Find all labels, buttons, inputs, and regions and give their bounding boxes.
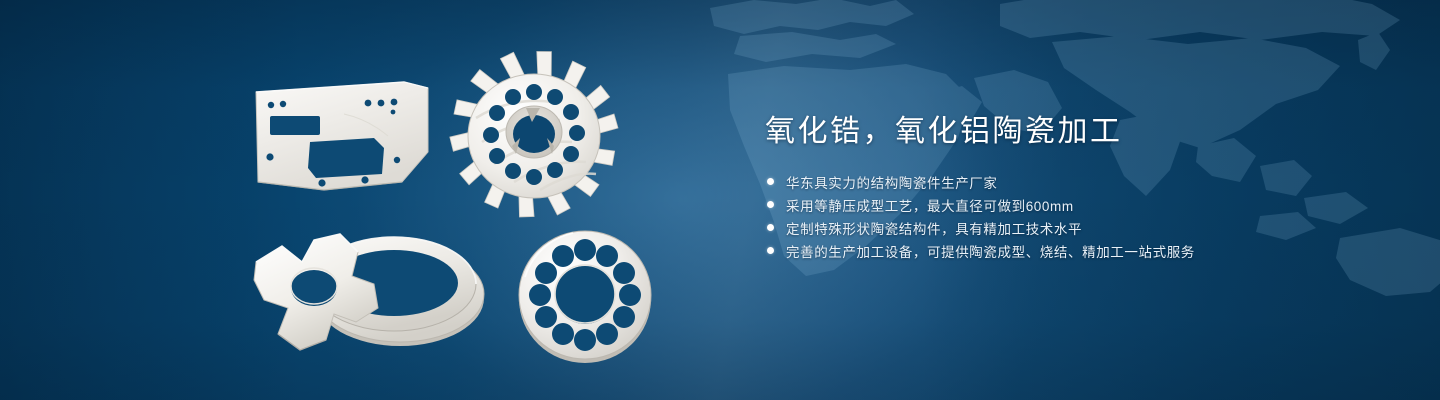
- feature-text: 华东具实力的结构陶瓷件生产厂家: [786, 172, 998, 192]
- ceramic-machined-plate-image: [252, 78, 432, 198]
- list-item: 定制特殊形状陶瓷结构件，具有精加工技术水平: [767, 216, 1365, 239]
- product-hero-banner: 氧化锆，氧化铝陶瓷加工 华东具实力的结构陶瓷件生产厂家 采用等静压成型工艺，最大…: [0, 0, 1440, 400]
- bullet-dot-icon: [767, 201, 774, 208]
- feature-text: 定制特殊形状陶瓷结构件，具有精加工技术水平: [786, 218, 1082, 238]
- ceramic-parts-group: [0, 0, 720, 400]
- feature-text: 完善的生产加工设备，可提供陶瓷成型、烧结、精加工一站式服务: [786, 241, 1195, 261]
- ceramic-perforated-ring-disc-image: [512, 222, 658, 368]
- banner-copy: 氧化锆，氧化铝陶瓷加工 华东具实力的结构陶瓷件生产厂家 采用等静压成型工艺，最大…: [765, 112, 1365, 262]
- ceramic-cross-and-rings-image: [248, 222, 500, 362]
- list-item: 采用等静压成型工艺，最大直径可做到600mm: [767, 193, 1365, 216]
- page-title: 氧化锆，氧化铝陶瓷加工: [765, 112, 1365, 152]
- bullet-dot-icon: [767, 247, 774, 254]
- list-item: 完善的生产加工设备，可提供陶瓷成型、烧结、精加工一站式服务: [767, 239, 1365, 262]
- bullet-dot-icon: [767, 224, 774, 231]
- list-item: 华东具实力的结构陶瓷件生产厂家: [767, 170, 1365, 193]
- ceramic-impeller-disc-image: [450, 48, 618, 216]
- feature-list: 华东具实力的结构陶瓷件生产厂家 采用等静压成型工艺，最大直径可做到600mm 定…: [767, 170, 1365, 262]
- feature-text: 采用等静压成型工艺，最大直径可做到600mm: [786, 195, 1074, 215]
- bullet-dot-icon: [767, 178, 774, 185]
